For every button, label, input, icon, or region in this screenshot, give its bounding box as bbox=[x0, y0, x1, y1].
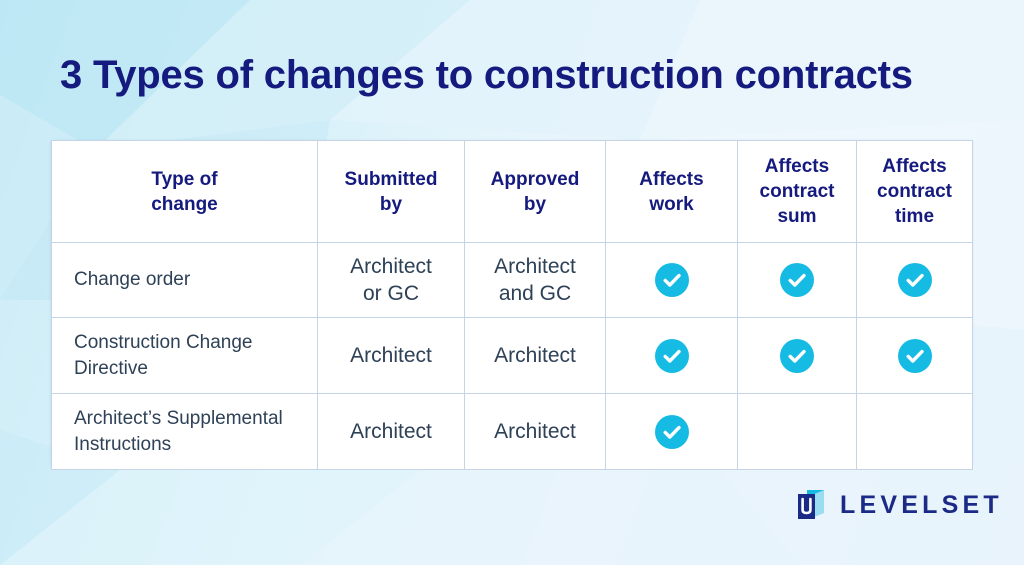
header-line-1: Submitted bbox=[345, 169, 438, 190]
cell-type-of-change: Construction Change Directive bbox=[52, 318, 318, 394]
cell-approved-by: Architect bbox=[465, 318, 606, 394]
header-line-1: Affects bbox=[765, 156, 829, 177]
levelset-logo: LEVELSET bbox=[795, 487, 1003, 523]
row-label-line-2: Instructions bbox=[74, 434, 171, 455]
column-header-type-of-change: Type of change bbox=[52, 141, 318, 243]
check-circle-icon bbox=[898, 339, 932, 373]
cell-affects-contract-sum bbox=[738, 318, 857, 394]
header-row: Type of change Submitted by Approved by … bbox=[52, 141, 973, 243]
value-line-1: Architect bbox=[494, 420, 576, 443]
check-circle-icon bbox=[655, 339, 689, 373]
table-body: Change order Architect or GC Architect a… bbox=[52, 243, 973, 470]
header-line-1: Type of bbox=[151, 169, 217, 190]
cell-affects-contract-time bbox=[857, 394, 973, 470]
cell-approved-by: Architect and GC bbox=[465, 243, 606, 318]
table-header: Type of change Submitted by Approved by … bbox=[52, 141, 973, 243]
value-line-1: Architect bbox=[494, 344, 576, 367]
column-header-submitted-by: Submitted by bbox=[318, 141, 465, 243]
header-line-1: Affects bbox=[639, 169, 703, 190]
value-line-2: or GC bbox=[363, 282, 419, 305]
cell-submitted-by: Architect bbox=[318, 394, 465, 470]
header-line-1: Affects bbox=[882, 156, 946, 177]
row-label-line-1: Construction Change bbox=[74, 332, 253, 353]
table-row: Change order Architect or GC Architect a… bbox=[52, 243, 973, 318]
comparison-table-wrapper: Type of change Submitted by Approved by … bbox=[51, 140, 972, 464]
header-line-3: sum bbox=[777, 206, 816, 227]
cell-affects-contract-time bbox=[857, 318, 973, 394]
column-header-approved-by: Approved by bbox=[465, 141, 606, 243]
header-line-2: contract bbox=[877, 181, 952, 202]
cell-affects-work bbox=[606, 243, 738, 318]
value-line-2: and GC bbox=[499, 282, 571, 305]
slide-title: 3 Types of changes to construction contr… bbox=[60, 48, 980, 102]
header-line-1: Approved bbox=[491, 169, 580, 190]
header-line-2: by bbox=[380, 194, 402, 215]
table-row: Architect’s Supplemental Instructions Ar… bbox=[52, 394, 973, 470]
table-row: Construction Change Directive Architect … bbox=[52, 318, 973, 394]
cell-type-of-change: Change order bbox=[52, 243, 318, 318]
cell-submitted-by: Architect or GC bbox=[318, 243, 465, 318]
header-line-3: time bbox=[895, 206, 934, 227]
check-circle-icon bbox=[780, 339, 814, 373]
check-circle-icon bbox=[655, 415, 689, 449]
header-line-2: change bbox=[151, 194, 218, 215]
cell-approved-by: Architect bbox=[465, 394, 606, 470]
cell-type-of-change: Architect’s Supplemental Instructions bbox=[52, 394, 318, 470]
cell-submitted-by: Architect bbox=[318, 318, 465, 394]
check-circle-icon bbox=[655, 263, 689, 297]
levelset-wordmark: LEVELSET bbox=[840, 493, 1003, 518]
header-line-2: work bbox=[649, 194, 693, 215]
value-line-1: Architect bbox=[350, 255, 432, 278]
comparison-table: Type of change Submitted by Approved by … bbox=[51, 140, 973, 470]
column-header-affects-contract-sum: Affects contract sum bbox=[738, 141, 857, 243]
levelset-logo-icon bbox=[795, 488, 827, 522]
cell-affects-work bbox=[606, 318, 738, 394]
value-line-1: Architect bbox=[350, 344, 432, 367]
header-line-2: contract bbox=[760, 181, 835, 202]
cell-affects-contract-sum bbox=[738, 243, 857, 318]
value-line-1: Architect bbox=[494, 255, 576, 278]
value-line-1: Architect bbox=[350, 420, 432, 443]
slide-canvas: 3 Types of changes to construction contr… bbox=[0, 0, 1024, 565]
cell-affects-work bbox=[606, 394, 738, 470]
check-circle-icon bbox=[780, 263, 814, 297]
column-header-affects-work: Affects work bbox=[606, 141, 738, 243]
cell-affects-contract-sum bbox=[738, 394, 857, 470]
row-label-line-1: Architect’s Supplemental bbox=[74, 408, 283, 429]
check-circle-icon bbox=[898, 263, 932, 297]
cell-affects-contract-time bbox=[857, 243, 973, 318]
row-label-line-2: Directive bbox=[74, 358, 148, 379]
row-label-line-1: Change order bbox=[74, 269, 190, 290]
header-line-2: by bbox=[524, 194, 546, 215]
column-header-affects-contract-time: Affects contract time bbox=[857, 141, 973, 243]
